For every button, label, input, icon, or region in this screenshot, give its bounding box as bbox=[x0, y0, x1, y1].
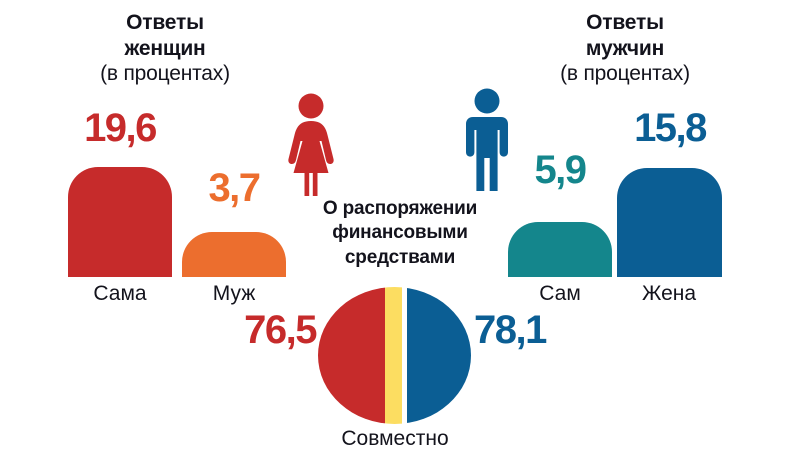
center-title-line-1: О распоряжении bbox=[278, 197, 522, 221]
bar-label-sam: Сам bbox=[502, 283, 618, 304]
women-title-line-2: женщин bbox=[40, 36, 290, 62]
men-title-line-3: (в процентах) bbox=[500, 61, 750, 87]
bar-value-sama: 19,6 bbox=[68, 108, 172, 148]
bar-muzh bbox=[182, 232, 286, 277]
women-section-title: Ответы женщин (в процентах) bbox=[40, 10, 290, 87]
bar-label-zhena: Жена bbox=[607, 283, 731, 304]
bar-sam bbox=[508, 222, 612, 277]
bar-value-sam: 5,9 bbox=[508, 150, 612, 190]
joint-value-women: 76,5 bbox=[198, 310, 316, 350]
bar-zhena bbox=[617, 168, 722, 277]
bar-value-zhena: 15,8 bbox=[605, 108, 735, 148]
joint-label: Совместно bbox=[320, 428, 470, 449]
man-pictogram-icon bbox=[465, 88, 509, 193]
men-title-line-2: мужчин bbox=[500, 36, 750, 62]
men-section-title: Ответы мужчин (в процентах) bbox=[500, 10, 750, 87]
center-chart-title: О распоряжении финансовыми средствами bbox=[278, 197, 522, 270]
woman-pictogram-icon bbox=[287, 93, 335, 198]
women-title-line-3: (в процентах) bbox=[40, 61, 290, 87]
men-title-line-1: Ответы bbox=[500, 10, 750, 36]
center-title-line-2: финансовыми bbox=[278, 221, 522, 245]
bar-label-muzh: Муж bbox=[176, 283, 292, 304]
bar-sama bbox=[68, 167, 172, 277]
bar-label-sama: Сама bbox=[58, 283, 182, 304]
center-title-line-3: средствами bbox=[278, 246, 522, 270]
bar-value-muzh: 3,7 bbox=[182, 168, 286, 208]
joint-value-men: 78,1 bbox=[474, 310, 592, 350]
joint-circle-chart bbox=[318, 287, 471, 424]
women-title-line-1: Ответы bbox=[40, 10, 290, 36]
infographic-canvas: Ответы женщин (в процентах) Ответы мужчи… bbox=[0, 0, 795, 463]
